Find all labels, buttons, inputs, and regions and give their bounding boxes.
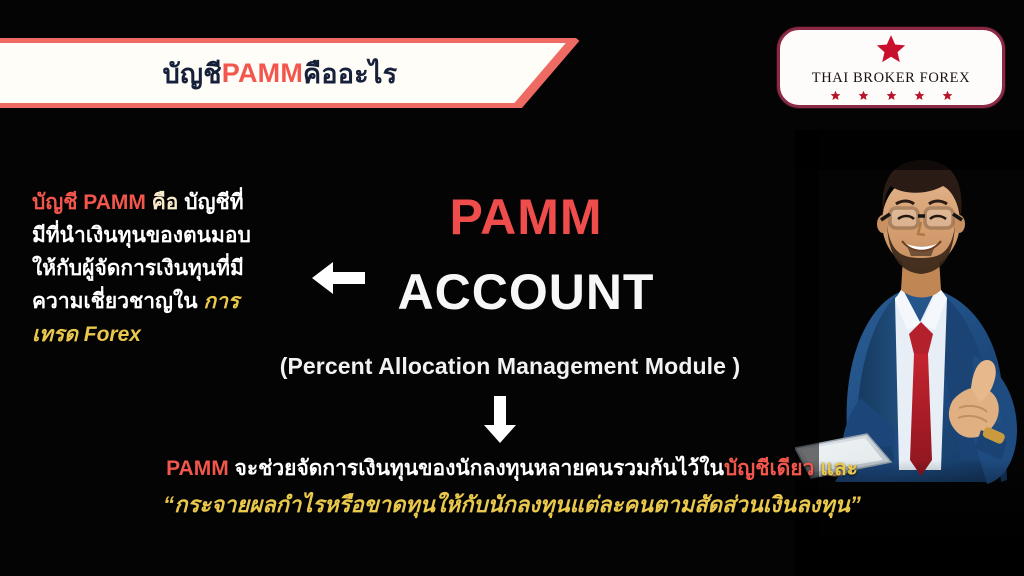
definition-line-1-seg-1: บัญชี PAMM [32,191,146,214]
arrow-down-icon [483,396,517,449]
definition-line-1-seg-3: บัญชีที่ [184,191,243,214]
logo-star-small-icon-4 [914,90,925,101]
pamm-acronym-subtitle: (Percent Allocation Management Module ) [150,353,870,380]
account-headline: ACCOUNT [366,267,686,317]
logo-brand-text: THAI BROKER FOREX [812,70,970,87]
definition-line-1: บัญชี PAMM คือ บัญชีที่ [32,186,322,219]
pamm-definition-paragraph: บัญชี PAMM คือ บัญชีที่ มีที่นำเงินทุนขอ… [32,186,322,351]
logo-star-small-icon-2 [858,90,869,101]
definition-line-2: มีที่นำเงินทุนของตนมอบ [32,219,322,252]
definition-line-4-seg-1: ความเชี่ยวชาญใน [32,290,203,313]
page-title-part-2: PAMM [222,58,303,89]
logo-star-small-icon-1 [830,90,841,101]
logo-star-small-icon-3 [886,90,897,101]
summary-line-2-quote: “กระจายผลกำไรหรือขาดทุนให้กับนักลงทุนแต่… [0,487,1024,522]
thai-broker-forex-logo[interactable]: THAI BROKER FOREX [777,27,1005,108]
summary-line-1-seg-4: และ [814,457,858,480]
definition-line-5: เทรด Forex [32,318,322,351]
summary-line-1: PAMM จะช่วยจัดการเงินทุนของนักลงทุนหลายค… [0,452,1024,485]
summary-line-1-seg-2: จะช่วยจัดการเงินทุนของนักลงทุนหลายคนรวมก… [229,457,724,480]
logo-star-large-icon [874,33,908,69]
logo-star-small-icon-5 [942,90,953,101]
logo-star-row [830,90,953,101]
definition-line-4: ความเชี่ยวชาญใน การ [32,285,322,318]
poster-canvas: บัญชี PAMM คืออะไร THAI BROKER FOREX บัญ… [0,0,1024,576]
summary-line-1-seg-3: บัญชีเดียว [724,457,814,480]
summary-line-1-seg-1: PAMM [166,457,229,480]
definition-line-3: ให้กับผู้จัดการเงินทุนที่มี [32,252,322,285]
pamm-headline: PAMM [366,192,686,242]
arrow-left-icon [311,261,365,300]
definition-line-1-seg-2: คือ [146,191,184,214]
page-title-part-1: บัญชี [163,52,222,95]
page-title-part-3: คืออะไร [303,52,397,95]
page-title: บัญชี PAMM คืออะไร [0,38,560,108]
definition-line-4-seg-2: การ [203,290,239,313]
